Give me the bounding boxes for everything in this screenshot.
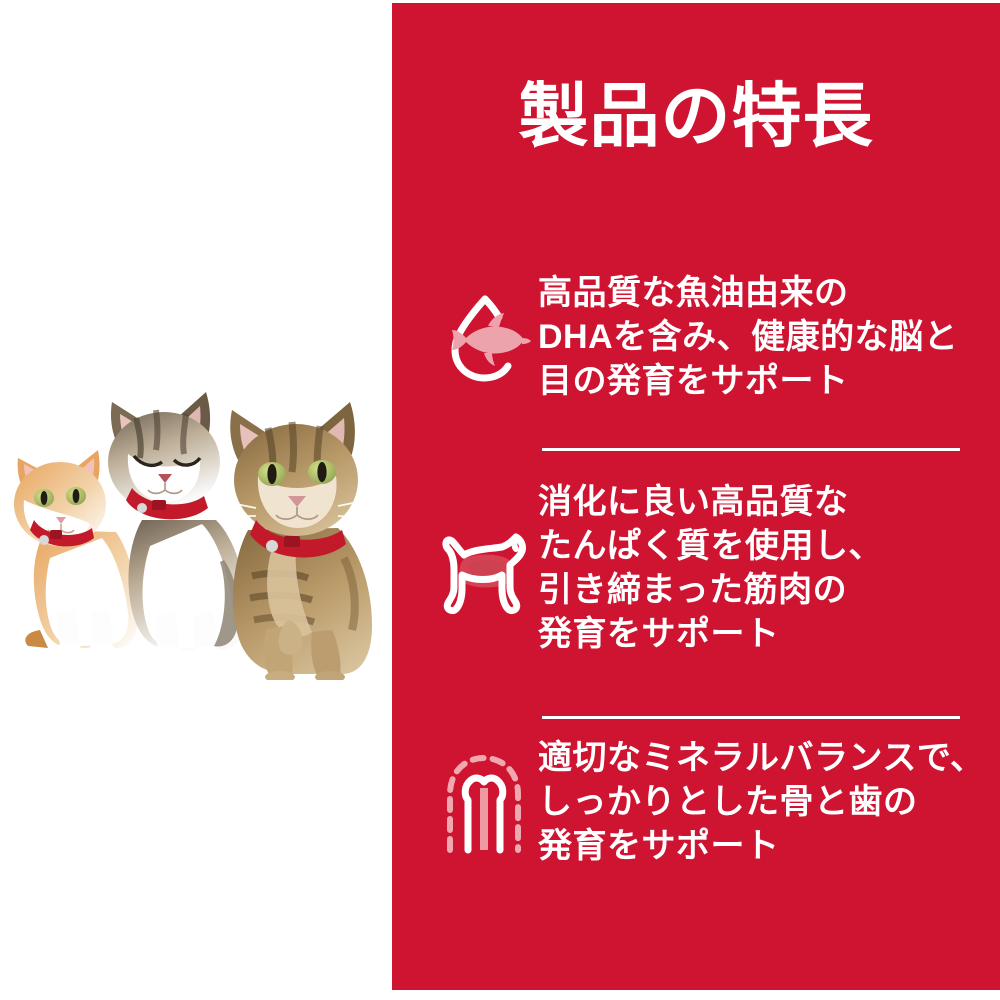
feature-line: 適切なミネラルバランスで、 <box>538 736 1000 780</box>
feature-list: 高品質な魚油由来の DHAを含み、健康的な脳と 目の発育をサポート <box>392 238 1000 901</box>
kittens-illustration <box>0 380 392 680</box>
fish-in-droplet-icon <box>430 288 538 384</box>
fish-in-droplet-glyph <box>436 288 532 384</box>
feature-line: 発育をサポート <box>538 612 1000 656</box>
kittens-photo <box>0 380 392 680</box>
feature-line: 消化に良い高品質な <box>538 480 1000 524</box>
feature-item-protein: 消化に良い高品質な たんぱく質を使用し、 引き締まった筋肉の 発育をサポート <box>392 433 1000 701</box>
cat-muscle-glyph <box>434 519 534 615</box>
kittens-photo-panel <box>0 0 392 1000</box>
feature-item-dha: 高品質な魚油由来の DHAを含み、健康的な脳と 目の発育をサポート <box>392 238 1000 433</box>
product-features-poster: 製品の特長 <box>0 0 1000 1000</box>
feature-line: 発育をサポート <box>538 824 1000 868</box>
feature-panel: 製品の特長 <box>392 3 1000 990</box>
page-title: 製品の特長 <box>392 75 1000 157</box>
feature-text-protein: 消化に良い高品質な たんぱく質を使用し、 引き締まった筋肉の 発育をサポート <box>538 478 1000 656</box>
feature-line: 引き締まった筋肉の <box>538 568 1000 612</box>
feature-text-minerals: 適切なミネラルバランスで、 しっかりとした骨と歯の 発育をサポート <box>538 734 1000 868</box>
bone-tooth-icon <box>430 748 538 854</box>
feature-line: しっかりとした骨と歯の <box>538 780 1000 824</box>
feature-line: たんぱく質を使用し、 <box>538 524 1000 568</box>
cat-muscle-icon <box>430 519 538 615</box>
feature-item-minerals: 適切なミネラルバランスで、 しっかりとした骨と歯の 発育をサポート <box>392 701 1000 901</box>
feature-line: 目の発育をサポート <box>538 359 1000 403</box>
feature-text-dha: 高品質な魚油由来の DHAを含み、健康的な脳と 目の発育をサポート <box>538 269 1000 403</box>
bone-tooth-glyph <box>436 748 532 854</box>
feature-line: 高品質な魚油由来の <box>538 271 1000 315</box>
feature-line: DHAを含み、健康的な脳と <box>538 315 1000 359</box>
